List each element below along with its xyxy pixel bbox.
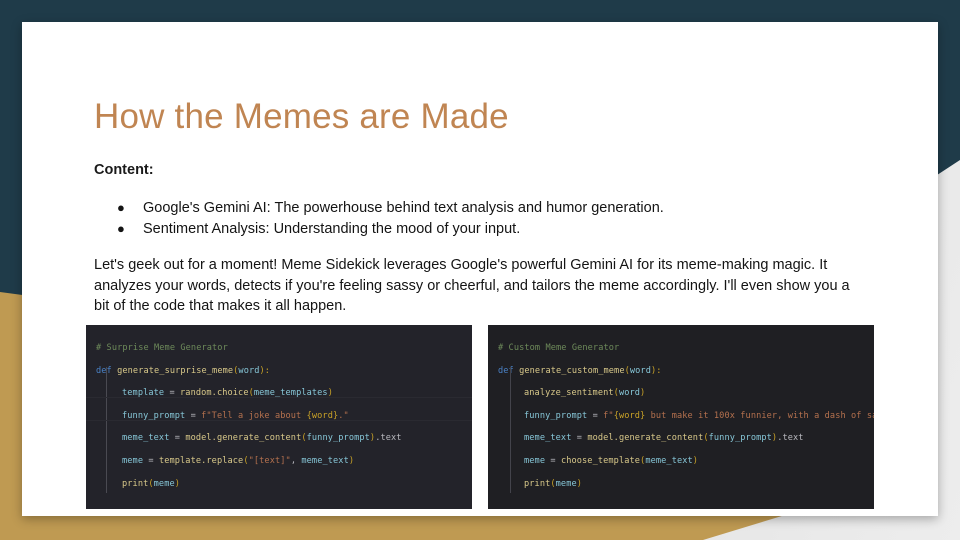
code-token: model.generate_content	[185, 433, 301, 443]
code-line: funny_prompt = f"{word} but make it 100x…	[498, 405, 864, 428]
code-token: choose_template	[561, 456, 640, 466]
code-line: meme = template.replace("[text]", meme_t…	[96, 450, 462, 473]
code-token: =	[577, 433, 588, 443]
code-token: .text	[375, 433, 401, 443]
list-item-label: Google's Gemini AI: The powerhouse behin…	[143, 198, 897, 219]
code-token: )	[577, 479, 582, 489]
indent-guide	[106, 367, 107, 493]
code-token: f"	[603, 411, 614, 421]
code-band	[86, 420, 472, 421]
code-line: def generate_custom_meme(word):	[498, 360, 864, 383]
code-token: {word}	[614, 411, 646, 421]
code-token: )	[175, 479, 180, 489]
code-token: print	[122, 479, 148, 489]
code-blocks-row: # Surprise Meme Generatordef generate_su…	[86, 325, 874, 509]
code-lines-right: # Custom Meme Generatordef generate_cust…	[498, 337, 864, 495]
code-token: word	[238, 366, 259, 376]
code-token: meme	[154, 479, 175, 489]
code-token: analyze_sentiment	[524, 388, 614, 398]
slide-card: How the Memes are Made Content: ●Google'…	[22, 22, 938, 516]
code-token: meme_text	[524, 433, 577, 443]
code-token: =	[148, 456, 159, 466]
indent-guide	[510, 367, 511, 493]
code-token: ,	[291, 456, 302, 466]
code-token: template.replace	[159, 456, 243, 466]
code-token: funny_prompt	[307, 433, 370, 443]
code-band	[86, 397, 472, 398]
code-token: meme	[524, 456, 550, 466]
code-line: print(meme)	[96, 473, 462, 496]
code-token: meme	[122, 456, 148, 466]
code-token: =	[593, 411, 604, 421]
code-token: ):	[260, 366, 271, 376]
code-token: ):	[651, 366, 662, 376]
code-token: model.generate_content	[587, 433, 703, 443]
code-token: word	[619, 388, 640, 398]
code-token: def	[498, 366, 519, 376]
code-block-surprise-meme: # Surprise Meme Generatordef generate_su…	[86, 325, 472, 509]
code-token: "[text]"	[249, 456, 291, 466]
list-item-label: Sentiment Analysis: Understanding the mo…	[143, 219, 897, 240]
code-line: meme_text = model.generate_content(funny…	[96, 427, 462, 450]
content-section-label: Content:	[94, 162, 154, 178]
code-token: .text	[777, 433, 803, 443]
code-line: funny_prompt = f"Tell a joke about {word…	[96, 405, 462, 428]
code-line: template = random.choice(meme_templates)	[96, 382, 462, 405]
code-token: meme_text	[645, 456, 692, 466]
code-token: =	[175, 433, 186, 443]
code-line: def generate_surprise_meme(word):	[96, 360, 462, 383]
code-token: funny_prompt	[524, 411, 593, 421]
bullet-dot-icon: ●	[117, 198, 143, 219]
code-token: =	[550, 456, 561, 466]
code-line: print(meme)	[498, 473, 864, 496]
code-token: # Custom Meme Generator	[498, 343, 619, 353]
code-token: but make it 100x funnier, with a dash of…	[645, 411, 874, 421]
bullet-list: ●Google's Gemini AI: The powerhouse behi…	[117, 198, 897, 239]
code-token: )	[349, 456, 354, 466]
code-line: analyze_sentiment(word)	[498, 382, 864, 405]
body-paragraph: Let's geek out for a moment! Meme Sideki…	[94, 255, 862, 317]
code-token: meme_text	[122, 433, 175, 443]
code-line: # Surprise Meme Generator	[96, 337, 462, 360]
code-token: generate_surprise_meme	[117, 366, 233, 376]
code-line: meme = choose_template(meme_text)	[498, 450, 864, 473]
code-block-custom-meme: # Custom Meme Generatordef generate_cust…	[488, 325, 874, 509]
code-token: meme	[556, 479, 577, 489]
page-title: How the Memes are Made	[94, 97, 509, 137]
code-token: # Surprise Meme Generator	[96, 343, 228, 353]
bullet-dot-icon: ●	[117, 219, 143, 240]
list-item: ●Sentiment Analysis: Understanding the m…	[117, 219, 897, 240]
code-token: print	[524, 479, 550, 489]
code-token: )	[693, 456, 698, 466]
list-item: ●Google's Gemini AI: The powerhouse behi…	[117, 198, 897, 219]
code-line: # Custom Meme Generator	[498, 337, 864, 360]
slide-root: How the Memes are Made Content: ●Google'…	[0, 0, 960, 540]
code-lines-left: # Surprise Meme Generatordef generate_su…	[96, 337, 462, 495]
code-token: meme_text	[301, 456, 348, 466]
code-token: word	[630, 366, 651, 376]
code-line: meme_text = model.generate_content(funny…	[498, 427, 864, 450]
code-token: )	[640, 388, 645, 398]
code-token: generate_custom_meme	[519, 366, 624, 376]
code-token: funny_prompt	[709, 433, 772, 443]
